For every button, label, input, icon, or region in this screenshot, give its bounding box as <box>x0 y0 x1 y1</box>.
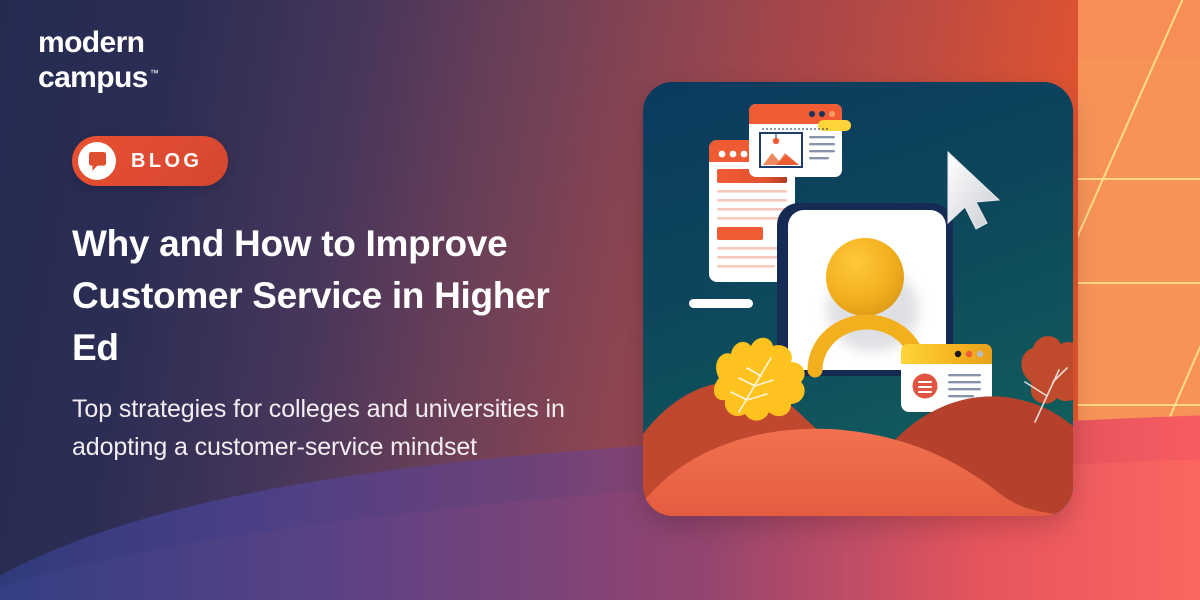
blog-badge-label: BLOG <box>131 150 202 173</box>
logo-line-campus: campus™ <box>38 58 159 93</box>
blog-social-card: modern campus™ BLOG Why and How to Impro… <box>0 0 1200 600</box>
grid-lines-diagonal <box>1078 0 1200 600</box>
speech-bubble-icon <box>78 142 116 180</box>
modern-campus-logo: modern campus™ <box>38 28 159 93</box>
blog-badge[interactable]: BLOG <box>72 136 228 186</box>
illustration-card <box>643 82 1073 516</box>
content-column: modern campus™ BLOG Why and How to Impro… <box>0 0 620 600</box>
logo-line-modern: modern <box>38 28 159 58</box>
trademark-symbol: ™ <box>150 68 159 78</box>
page-title: Why and How to Improve Customer Service … <box>72 218 602 374</box>
page-subtitle: Top strategies for colleges and universi… <box>72 390 572 466</box>
